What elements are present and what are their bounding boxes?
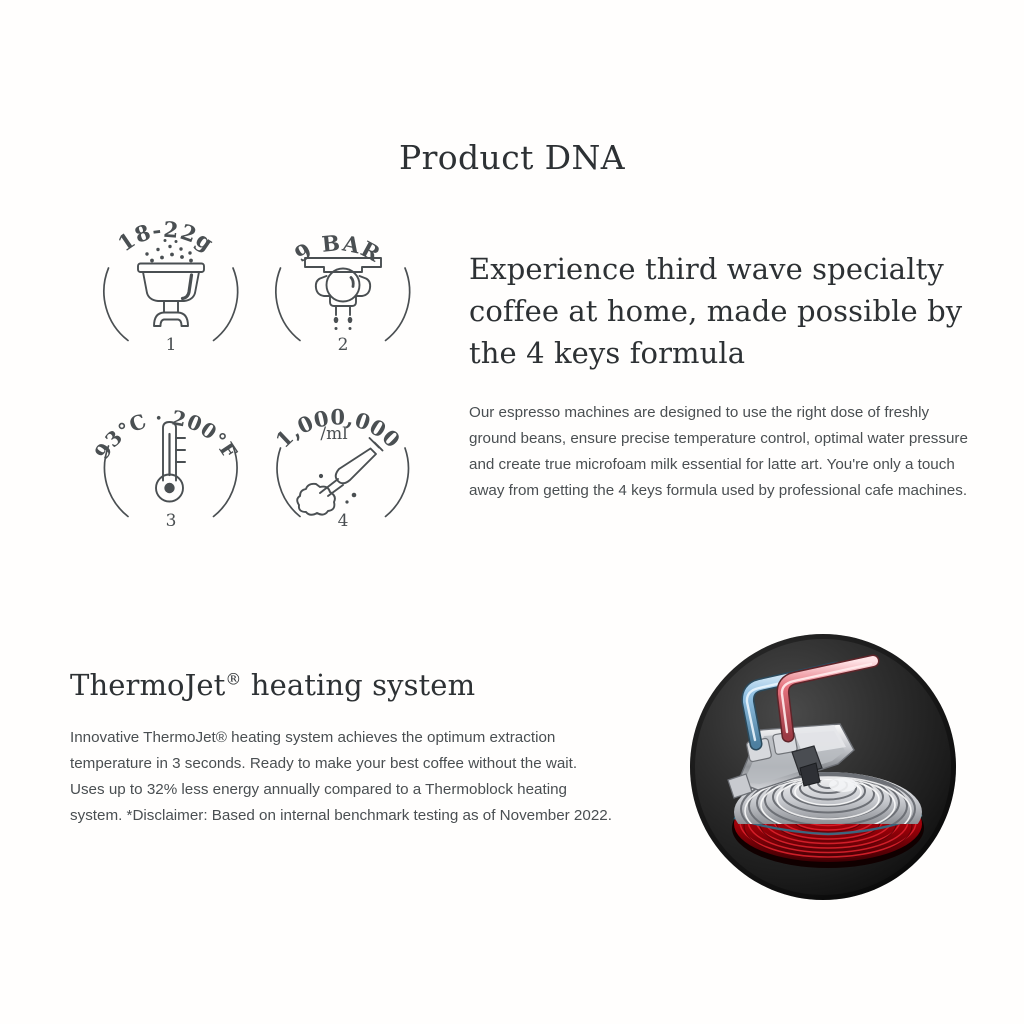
thermojet-section: ThermoJet® heating system Innovative The… <box>0 620 1024 940</box>
thermojet-copy-column: ThermoJet® heating system Innovative The… <box>70 667 615 829</box>
portafilter-extraction-icon <box>305 258 381 330</box>
thermometer-icon <box>156 422 185 502</box>
dna-badge-microfoam-sublabel: /ml <box>320 424 347 444</box>
dna-badge-pressure-number: 2 <box>338 335 349 355</box>
product-dna-page: Product DNA 18-22g <box>0 0 1024 1024</box>
dna-badge-microfoam: 1,000,000 /ml 4 <box>258 372 428 552</box>
thermojet-cutaway-image <box>688 632 958 902</box>
portafilter-basket-icon <box>138 239 204 326</box>
dna-copy-column: Experience third wave specialty coffee a… <box>469 248 981 504</box>
svg-text:93°C · 200°F: 93°C · 200°F <box>90 405 243 463</box>
dna-badge-grid: 18-22g 1 <box>86 196 432 556</box>
dna-body-text: Our espresso machines are designed to us… <box>469 400 977 504</box>
dna-badge-temperature-number: 3 <box>166 511 177 531</box>
dna-badge-pressure: 9 BAR 2 <box>258 196 428 376</box>
thermojet-heading: ThermoJet® heating system <box>70 667 615 703</box>
page-title: Product DNA <box>0 138 1024 177</box>
registered-trademark-icon: ® <box>225 669 241 688</box>
dna-badge-temperature-label: 93°C · 200°F <box>90 405 243 463</box>
svg-text:18-22g: 18-22g <box>114 218 218 258</box>
thermojet-heading-main: ThermoJet <box>70 668 225 702</box>
dna-badge-dose: 18-22g 1 <box>86 196 256 376</box>
thermojet-body-text: Innovative ThermoJet® heating system ach… <box>70 725 615 829</box>
dna-badge-dose-number: 1 <box>166 335 177 355</box>
dna-badge-temperature: 93°C · 200°F 3 <box>86 372 256 552</box>
dna-badge-microfoam-number: 4 <box>338 511 349 531</box>
product-dna-section: 18-22g 1 <box>0 196 1024 556</box>
dna-badge-dose-label: 18-22g <box>114 218 218 258</box>
steam-wand-icon <box>297 438 382 515</box>
dna-heading: Experience third wave specialty coffee a… <box>469 248 981 374</box>
thermojet-heading-tail: heating system <box>241 668 475 702</box>
